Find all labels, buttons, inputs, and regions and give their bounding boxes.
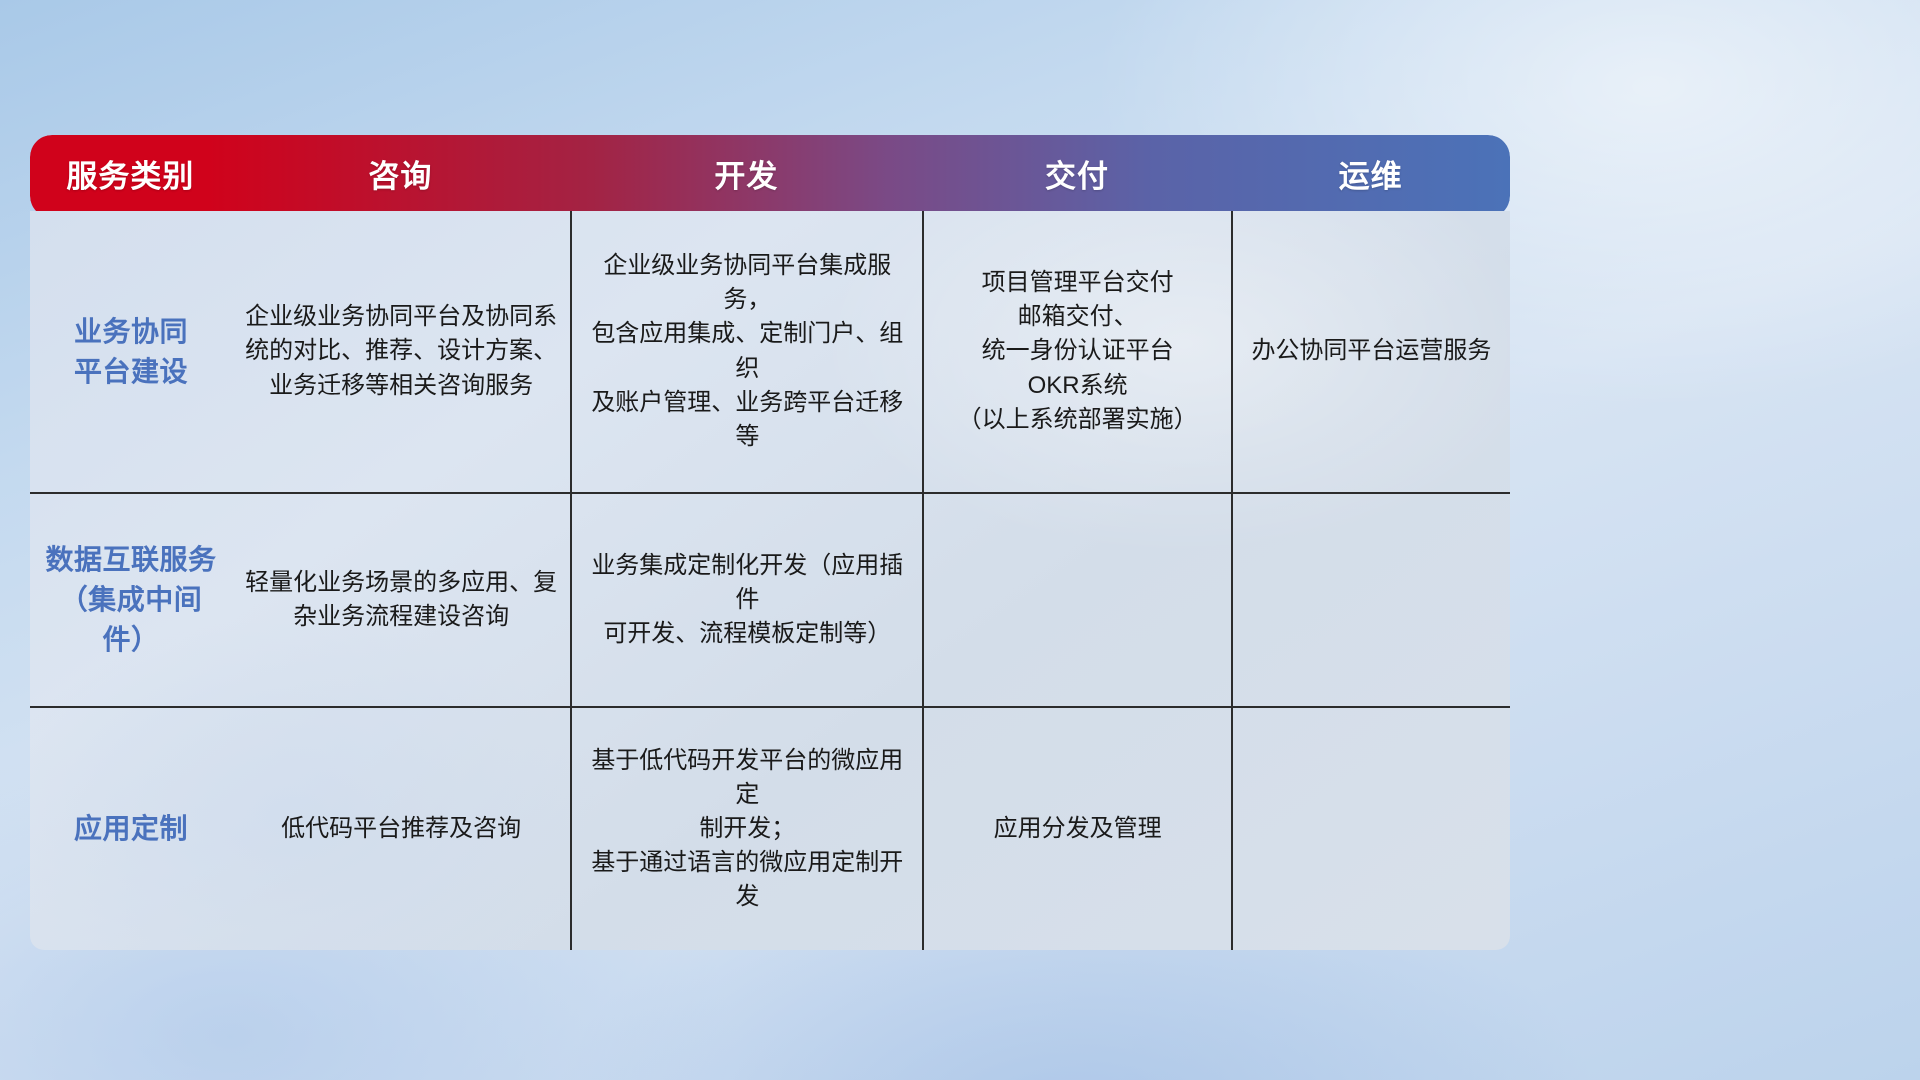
header-cell-category: 服务类别 <box>30 161 231 192</box>
cell-development: 企业级业务协同平台集成服务， 包含应用集成、定制门户、组织 及账户管理、业务跨平… <box>570 211 922 492</box>
table-header-row: 服务类别 咨询 开发 交付 运维 <box>30 135 1510 218</box>
table-row: 业务协同 平台建设 企业级业务协同平台及协同系 统的对比、推荐、设计方案、 业务… <box>30 211 1510 494</box>
cell-delivery: 项目管理平台交付 邮箱交付、 统一身份认证平台 OKR系统 （以上系统部署实施） <box>922 211 1231 492</box>
table-row: 应用定制 低代码平台推荐及咨询 基于低代码开发平台的微应用定 制开发； 基于通过… <box>30 708 1510 950</box>
header-cell-consulting: 咨询 <box>231 161 570 192</box>
table-body: 业务协同 平台建设 企业级业务协同平台及协同系 统的对比、推荐、设计方案、 业务… <box>30 211 1510 950</box>
cell-consulting: 低代码平台推荐及咨询 <box>232 708 570 950</box>
header-cell-development: 开发 <box>570 161 923 192</box>
cell-consulting: 企业级业务协同平台及协同系 统的对比、推荐、设计方案、 业务迁移等相关咨询服务 <box>232 211 570 492</box>
cell-development: 业务集成定制化开发（应用插件 可开发、流程模板定制等） <box>570 494 922 706</box>
table-row: 数据互联服务 （集成中间件） 轻量化业务场景的多应用、复 杂业务流程建设咨询 业… <box>30 494 1510 708</box>
header-cell-delivery: 交付 <box>923 161 1232 192</box>
cell-development: 基于低代码开发平台的微应用定 制开发； 基于通过语言的微应用定制开发 <box>570 708 922 950</box>
slide-canvas: 服务类别 咨询 开发 交付 运维 业务协同 平台建设 企业级业务协同平台及协同系… <box>0 0 1920 1080</box>
service-matrix-table: 服务类别 咨询 开发 交付 运维 业务协同 平台建设 企业级业务协同平台及协同系… <box>30 135 1510 950</box>
cell-operations: 办公协同平台运营服务 <box>1231 211 1510 492</box>
cell-category: 业务协同 平台建设 <box>30 211 232 492</box>
cell-operations <box>1231 708 1510 950</box>
cell-category: 数据互联服务 （集成中间件） <box>30 494 232 706</box>
cell-operations <box>1231 494 1510 706</box>
cell-delivery <box>922 494 1231 706</box>
cell-delivery: 应用分发及管理 <box>922 708 1231 950</box>
cell-consulting: 轻量化业务场景的多应用、复 杂业务流程建设咨询 <box>232 494 570 706</box>
cell-category: 应用定制 <box>30 708 232 950</box>
header-cell-operations: 运维 <box>1231 161 1510 192</box>
